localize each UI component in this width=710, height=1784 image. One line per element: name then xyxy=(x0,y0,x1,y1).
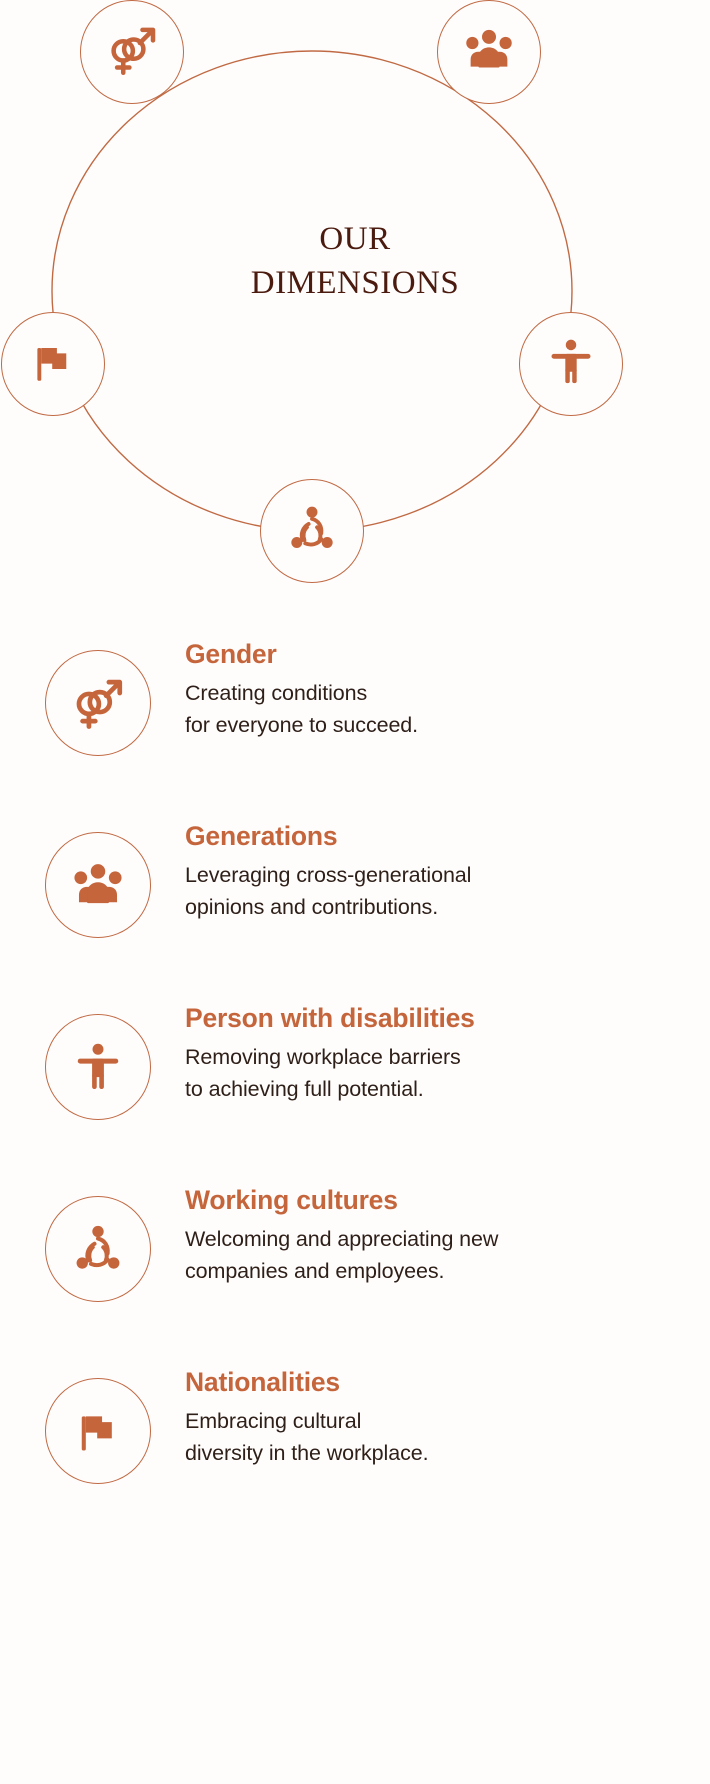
list-item-text: Gender Creating conditions for everyone … xyxy=(185,634,700,742)
list-item[interactable]: Gender Creating conditions for everyone … xyxy=(0,634,710,774)
gender-icon xyxy=(104,22,160,83)
our-dimensions-infographic: OUR DIMENSIONS xyxy=(0,0,710,1784)
diagram-node-gender[interactable] xyxy=(80,0,184,104)
list-item[interactable]: Working cultures Welcoming and appreciat… xyxy=(0,1180,710,1320)
list-item-desc-line-2: opinions and contributions. xyxy=(185,892,700,924)
list-item-desc-line-1: Embracing cultural xyxy=(185,1406,700,1438)
list-item-description: Welcoming and appreciating new companies… xyxy=(185,1224,700,1288)
list-item-desc-line-2: diversity in the workplace. xyxy=(185,1438,700,1470)
list-item[interactable]: Generations Leveraging cross-generationa… xyxy=(0,816,710,956)
list-item-title: Gender xyxy=(185,638,700,670)
list-item-desc-line-1: Creating conditions xyxy=(185,678,700,710)
list-item-text: Nationalities Embracing cultural diversi… xyxy=(185,1362,700,1470)
working-cultures-icon xyxy=(45,1196,151,1302)
list-item-text: Generations Leveraging cross-generationa… xyxy=(185,816,700,924)
accessibility-person-icon xyxy=(45,1014,151,1120)
list-item-desc-line-2: to achieving full potential. xyxy=(185,1074,700,1106)
list-item-desc-line-1: Removing workplace barriers xyxy=(185,1042,700,1074)
diagram-node-working-cultures[interactable] xyxy=(260,479,364,583)
list-item-title: Person with disabilities xyxy=(185,1002,700,1034)
list-item-desc-line-1: Leveraging cross-generational xyxy=(185,860,700,892)
diagram-node-generations[interactable] xyxy=(437,0,541,104)
working-cultures-icon xyxy=(285,502,339,561)
list-item[interactable]: Person with disabilities Removing workpl… xyxy=(0,998,710,1138)
list-item-text: Person with disabilities Removing workpl… xyxy=(185,998,700,1106)
list-item-description: Creating conditions for everyone to succ… xyxy=(185,678,700,742)
list-item-description: Embracing cultural diversity in the work… xyxy=(185,1406,700,1470)
diagram-node-nationalities[interactable] xyxy=(1,312,105,416)
list-item-desc-line-2: companies and employees. xyxy=(185,1256,700,1288)
list-item-desc-line-2: for everyone to succeed. xyxy=(185,710,700,742)
list-item-description: Removing workplace barriers to achieving… xyxy=(185,1042,700,1106)
generations-group-icon xyxy=(461,22,517,83)
list-item-desc-line-1: Welcoming and appreciating new xyxy=(185,1224,700,1256)
list-item-title: Nationalities xyxy=(185,1366,700,1398)
list-item-title: Generations xyxy=(185,820,700,852)
dimensions-list: Gender Creating conditions for everyone … xyxy=(0,612,710,1502)
flag-icon xyxy=(28,337,78,392)
list-item[interactable]: Nationalities Embracing cultural diversi… xyxy=(0,1362,710,1502)
flag-icon xyxy=(45,1378,151,1484)
gender-icon xyxy=(45,650,151,756)
dimensions-circle-diagram: OUR DIMENSIONS xyxy=(0,0,710,612)
list-item-title: Working cultures xyxy=(185,1184,700,1216)
accessibility-person-icon xyxy=(545,336,597,393)
list-item-text: Working cultures Welcoming and appreciat… xyxy=(185,1180,700,1288)
diagram-node-disability[interactable] xyxy=(519,312,623,416)
list-item-description: Leveraging cross-generational opinions a… xyxy=(185,860,700,924)
generations-group-icon xyxy=(45,832,151,938)
